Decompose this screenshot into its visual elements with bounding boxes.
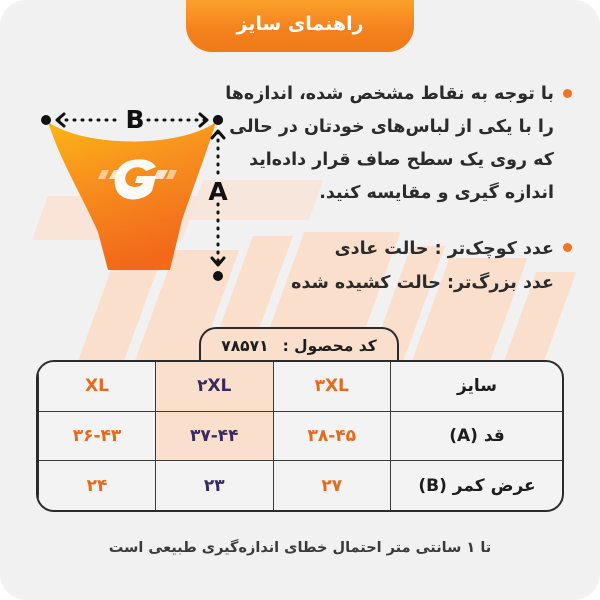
- svg-text:B: B: [125, 105, 144, 134]
- measurement-note: تا ۱ سانتی متر احتمال خطای اندازه‌گیری ط…: [0, 540, 600, 556]
- cell-length-3xl: ۳۸-۴۵: [273, 411, 391, 460]
- dimension-b-callout: B: [41, 105, 223, 134]
- size-header-xl: XL: [38, 361, 156, 411]
- table-row-waist: عرض کمر (B) ۲۷ ۲۳ ۲۴: [38, 461, 564, 511]
- instruction-text-2: عدد کوچک‌تر : حالت عادی عدد بزرگ‌تر: حال…: [220, 232, 554, 300]
- badge-label: راهنمای سایز: [236, 13, 363, 39]
- product-code-value: ۷۸۵۷۱: [221, 337, 268, 355]
- measurement-note-text: تا ۱ سانتی متر احتمال خطای اندازه‌گیری ط…: [109, 540, 491, 556]
- instruction-line: عدد بزرگ‌تر: حالت کشیده شده: [220, 266, 554, 300]
- cell-length-xl: ۳۶-۴۳: [38, 411, 156, 460]
- size-guide-card: راهنمای سایز: [0, 0, 600, 600]
- instruction-line: عدد کوچک‌تر : حالت عادی: [220, 232, 554, 266]
- cell-waist-xl: ۲۴: [38, 461, 156, 511]
- instruction-line: اندازه گیری و مقایسه کنید.: [220, 177, 554, 210]
- table-row-length: قد (A) ۳۸-۴۵ ۳۷-۴۴ ۳۶-۴۳: [38, 411, 564, 460]
- product-code-label: کد محصول :: [283, 337, 377, 355]
- row-header-waist: عرض کمر (B): [391, 461, 565, 511]
- instruction-item-2: عدد کوچک‌تر : حالت عادی عدد بزرگ‌تر: حال…: [220, 232, 572, 300]
- instruction-text-1: با توجه به نقاط مشخص شده، اندازه‌ها را ب…: [220, 78, 554, 210]
- product-code-tab: کد محصول : ۷۸۵۷۱: [199, 327, 399, 362]
- bullet-dot-icon: [563, 89, 572, 98]
- size-guide-badge: راهنمای سایز: [186, 0, 414, 52]
- instruction-item-1: با توجه به نقاط مشخص شده، اندازه‌ها را ب…: [220, 78, 572, 210]
- instruction-line: با توجه به نقاط مشخص شده، اندازه‌ها: [220, 78, 554, 111]
- size-table-wrapper: سایز ۳XL ۲XL XL قد (A) ۳۸-۴۵ ۳۷-۴۴ ۳۶-۴۳…: [36, 360, 564, 512]
- instruction-line: که روی یک سطح صاف قرار داده‌اید: [220, 144, 554, 177]
- size-header-2xl: ۲XL: [156, 361, 274, 411]
- instructions-block: با توجه به نقاط مشخص شده، اندازه‌ها را ب…: [220, 78, 572, 300]
- instruction-line: را با یکی از لباس‌های خودتان در حالی: [220, 111, 554, 144]
- cell-waist-3xl: ۲۷: [273, 461, 391, 511]
- cell-waist-2xl: ۲۳: [156, 461, 274, 511]
- table-row-sizes: سایز ۳XL ۲XL XL: [38, 361, 564, 411]
- row-header-size: سایز: [391, 361, 565, 411]
- bullet-dot-icon: [563, 243, 572, 252]
- size-header-3xl: ۳XL: [273, 361, 391, 411]
- row-header-length: قد (A): [391, 411, 565, 460]
- size-table: سایز ۳XL ۲XL XL قد (A) ۳۸-۴۵ ۳۷-۴۴ ۳۶-۴۳…: [36, 360, 564, 512]
- cell-length-2xl: ۳۷-۴۴: [156, 411, 274, 460]
